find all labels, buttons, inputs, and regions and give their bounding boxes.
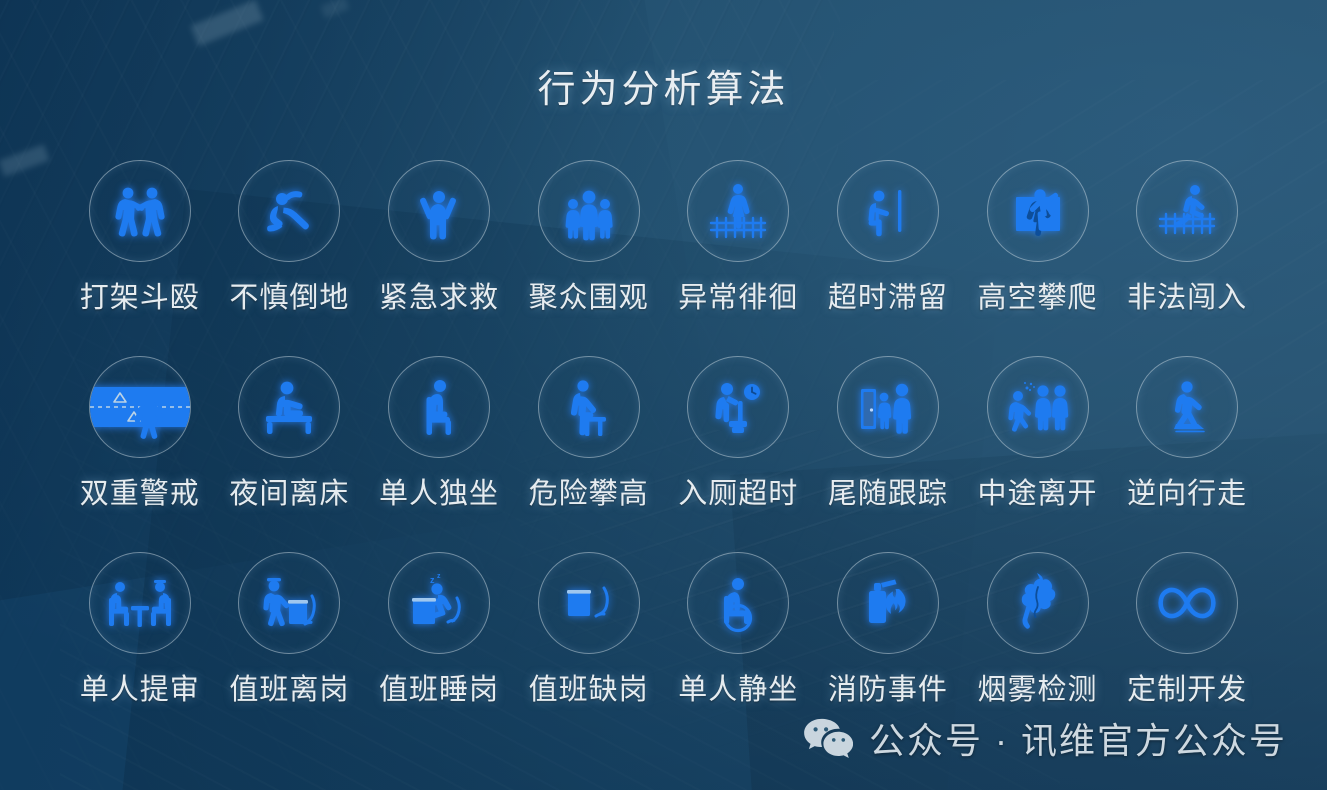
algorithm-label: 逆向行走 [1127, 470, 1247, 512]
single-interrogation-icon [105, 572, 175, 634]
algorithm-item-sleeping-on-duty[interactable]: z z 值班睡岗 [364, 552, 514, 708]
icon-circle [538, 552, 640, 654]
algorithm-label: 打架斗殴 [80, 274, 200, 316]
algorithm-label: 单人提审 [80, 666, 200, 708]
algorithm-item-reverse-walking[interactable]: 逆向行走 [1112, 356, 1262, 512]
double-alert-zone-icon [90, 357, 190, 457]
algorithm-label: 值班缺岗 [529, 666, 649, 708]
person-seated-still-icon [707, 572, 769, 634]
algorithm-label: 单人静坐 [678, 666, 798, 708]
infinity-custom-dev-icon [1153, 581, 1221, 625]
fire-extinguisher-flame-icon [856, 573, 920, 633]
icon-circle [89, 356, 191, 458]
algorithm-item-dangerous-climbing[interactable]: 危险攀高 [514, 356, 664, 512]
algorithm-label: 双重警戒 [80, 470, 200, 512]
fighting-icon [109, 180, 171, 242]
algorithm-label: 超时滞留 [828, 274, 948, 316]
poster-stage: 行为分析算法 打架斗殴 [0, 0, 1327, 790]
page-title: 行为分析算法 [0, 58, 1327, 113]
icon-circle [987, 552, 1089, 654]
icon-circle [89, 160, 191, 262]
algorithm-item-seated-still[interactable]: 单人静坐 [664, 552, 814, 708]
icon-circle [687, 160, 789, 262]
algorithm-item-toilet-overtime[interactable]: 入厕超时 [664, 356, 814, 512]
algorithm-item-emergency-help[interactable]: 紧急求救 [364, 160, 514, 316]
algorithm-label: 中途离开 [978, 470, 1098, 512]
algorithm-label: 紧急求救 [379, 274, 499, 316]
icon-circle [1136, 552, 1238, 654]
algorithm-label: 非法闯入 [1127, 274, 1247, 316]
icon-circle [987, 160, 1089, 262]
person-climbing-fence-icon [1154, 178, 1220, 244]
icon-circle [837, 160, 939, 262]
person-sitting-alone-icon [410, 375, 468, 439]
algorithm-grid: 打架斗殴 不慎倒地 [65, 160, 1262, 708]
wechat-icon [803, 717, 853, 759]
icon-circle [687, 356, 789, 458]
footer-text: 公众号 · 讯维官方公众号 [869, 712, 1287, 764]
icon-circle [987, 356, 1089, 458]
algorithm-label: 不慎倒地 [229, 274, 349, 316]
icon-circle [388, 160, 490, 262]
poster-content: 行为分析算法 打架斗殴 [0, 0, 1327, 790]
icon-circle [538, 356, 640, 458]
svg-text:z: z [437, 573, 441, 580]
reverse-walking-icon [1154, 375, 1220, 439]
icon-circle [89, 552, 191, 654]
algorithm-item-fighting[interactable]: 打架斗殴 [65, 160, 215, 316]
icon-circle: z z [388, 552, 490, 654]
tailgating-door-icon [855, 375, 921, 439]
person-loitering-fence-icon [705, 178, 771, 244]
algorithm-label: 定制开发 [1127, 666, 1247, 708]
algorithm-label: 异常徘徊 [678, 274, 798, 316]
person-climbing-wall-icon [1006, 179, 1070, 243]
icon-circle [687, 552, 789, 654]
algorithm-label: 夜间离床 [229, 470, 349, 512]
duty-leaving-post-icon [255, 572, 323, 634]
algorithm-item-abnormal-loitering[interactable]: 异常徘徊 [664, 160, 814, 316]
algorithm-item-double-alert[interactable]: 双重警戒 [65, 356, 215, 512]
algorithm-item-fire-event[interactable]: 消防事件 [813, 552, 963, 708]
icon-circle [238, 552, 340, 654]
algorithm-item-custom-development[interactable]: 定制开发 [1112, 552, 1262, 708]
icon-circle [837, 552, 939, 654]
algorithm-item-leaving-midway[interactable]: 中途离开 [963, 356, 1113, 512]
toilet-overtime-clock-icon [707, 375, 769, 439]
algorithm-label: 聚众围观 [529, 274, 649, 316]
algorithm-item-absent-from-duty[interactable]: 值班缺岗 [514, 552, 664, 708]
icon-circle [1136, 160, 1238, 262]
algorithm-item-sitting-alone[interactable]: 单人独坐 [364, 356, 514, 512]
algorithm-item-illegal-intrusion[interactable]: 非法闯入 [1112, 160, 1262, 316]
icon-circle [1136, 356, 1238, 458]
algorithm-label: 值班离岗 [229, 666, 349, 708]
algorithm-label: 烟雾检测 [978, 666, 1098, 708]
duty-sleeping-icon: z z [405, 572, 473, 634]
person-arms-raised-icon [408, 180, 470, 242]
algorithm-item-single-interrogation[interactable]: 单人提审 [65, 552, 215, 708]
algorithm-label: 值班睡岗 [379, 666, 499, 708]
person-fallen-icon [258, 180, 320, 242]
footer-wechat: 公众号 · 讯维官方公众号 [803, 712, 1287, 764]
algorithm-item-fall-down[interactable]: 不慎倒地 [215, 160, 365, 316]
icon-circle [837, 356, 939, 458]
person-sitting-pole-icon [857, 180, 919, 242]
person-on-stool-icon [558, 375, 620, 439]
algorithm-item-overstay[interactable]: 超时滞留 [813, 160, 963, 316]
algorithm-label: 单人独坐 [379, 470, 499, 512]
duty-absent-desk-icon [558, 574, 620, 632]
svg-text:z: z [430, 575, 435, 585]
icon-circle [238, 160, 340, 262]
algorithm-item-high-altitude-climbing[interactable]: 高空攀爬 [963, 160, 1113, 316]
algorithm-label: 高空攀爬 [978, 274, 1098, 316]
algorithm-label: 尾随跟踪 [828, 470, 948, 512]
person-leaving-bed-icon [256, 375, 322, 439]
algorithm-label: 入厕超时 [678, 470, 798, 512]
smoke-detection-icon [1010, 571, 1066, 635]
algorithm-label: 消防事件 [828, 666, 948, 708]
algorithm-item-leaving-bed-at-night[interactable]: 夜间离床 [215, 356, 365, 512]
algorithm-item-tailgating[interactable]: 尾随跟踪 [813, 356, 963, 512]
algorithm-item-crowd-gathering[interactable]: 聚众围观 [514, 160, 664, 316]
algorithm-item-smoke-detection[interactable]: 烟雾检测 [963, 552, 1113, 708]
icon-circle [238, 356, 340, 458]
icon-circle [388, 356, 490, 458]
person-leaving-group-icon [1004, 375, 1072, 439]
algorithm-item-leaving-duty-post[interactable]: 值班离岗 [215, 552, 365, 708]
crowd-gathering-icon [558, 180, 620, 242]
icon-circle [538, 160, 640, 262]
algorithm-label: 危险攀高 [529, 470, 649, 512]
